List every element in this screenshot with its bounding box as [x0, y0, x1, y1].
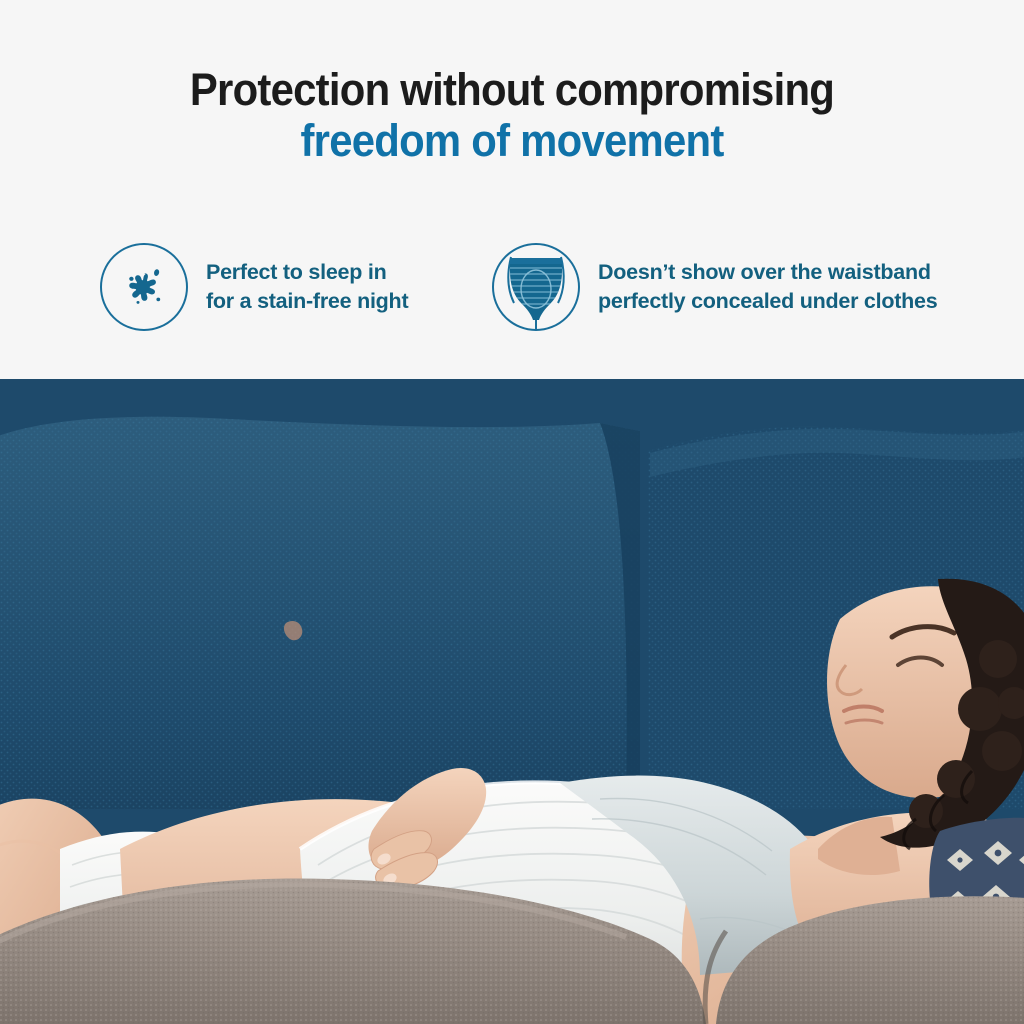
splash-icon — [100, 243, 188, 331]
header-panel: Protection without compromising freedom … — [0, 0, 1024, 379]
lifestyle-photo — [0, 379, 1024, 1024]
feature-sleep-line-1: Perfect to sleep in — [206, 258, 408, 287]
feature-discreet-line-1: Doesn’t show over the waistband — [598, 258, 937, 287]
feature-label-discreet: Doesn’t show over the waistband perfectl… — [598, 258, 937, 315]
headline-line-2: freedom of movement — [36, 117, 988, 165]
headline-line-1: Protection without compromising — [36, 66, 988, 114]
feature-sleep-line-2: for a stain-free night — [206, 287, 408, 316]
feature-list: Perfect to sleep in for a stain-free nig… — [0, 243, 1024, 343]
page-title: Protection without compromising freedom … — [0, 66, 1024, 164]
feature-item-discreet: Doesn’t show over the waistband perfectl… — [492, 243, 937, 331]
feature-discreet-line-2: perfectly concealed under clothes — [598, 287, 937, 316]
feature-label-sleep: Perfect to sleep in for a stain-free nig… — [206, 258, 408, 315]
feature-item-sleep: Perfect to sleep in for a stain-free nig… — [100, 243, 408, 331]
briefs-icon — [492, 243, 580, 331]
